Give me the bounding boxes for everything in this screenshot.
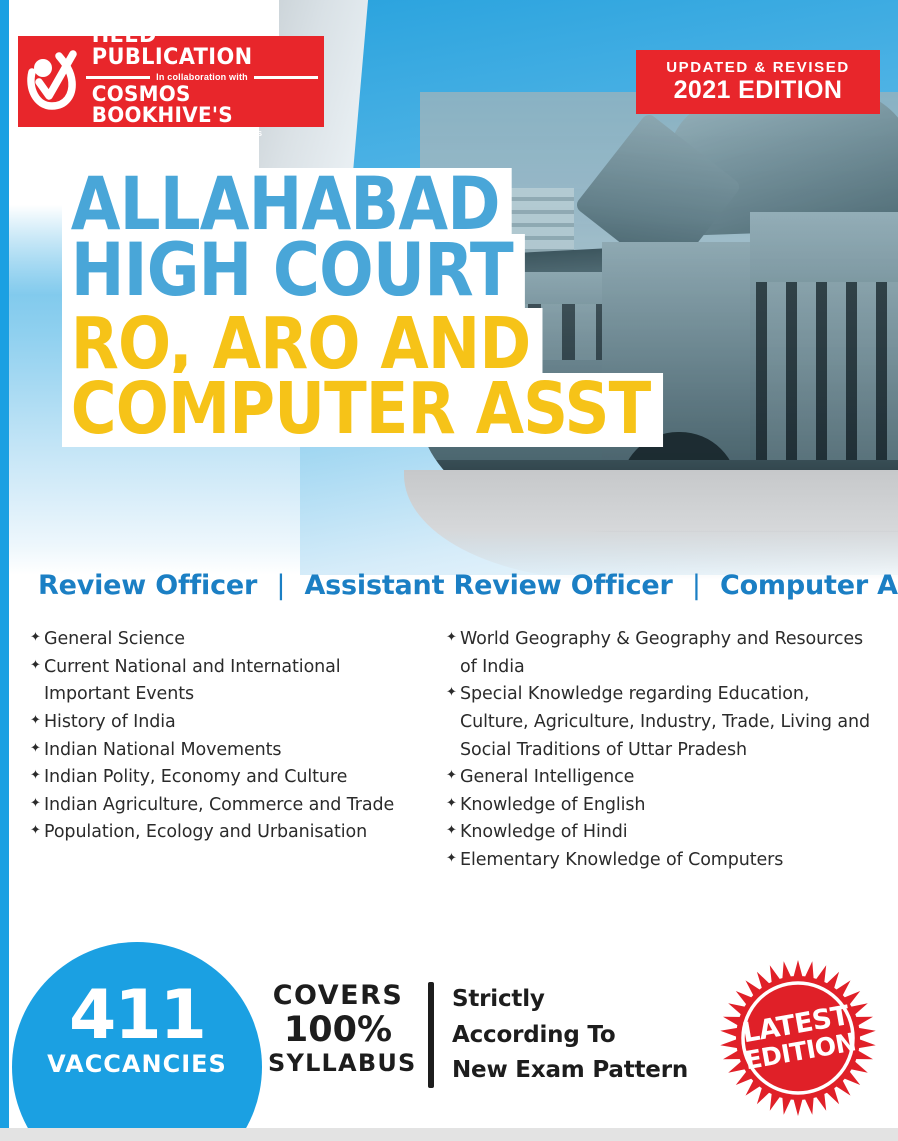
bullet-icon: ✦ xyxy=(446,847,460,872)
title-line-4: COMPUTER ASST xyxy=(62,373,663,447)
role-review-officer: Review Officer xyxy=(38,570,257,601)
page-title: ALLAHABAD HIGH COURT RO, ARO AND COMPUTE… xyxy=(62,168,745,438)
list-item: ✦ General Science xyxy=(30,626,430,654)
list-item-label: Special Knowledge regarding Education, C… xyxy=(460,681,880,764)
logo-rule-left xyxy=(86,76,150,79)
subtitle-separator-1: | xyxy=(266,570,295,601)
bottom-edge xyxy=(0,1128,898,1141)
bullet-icon: ✦ xyxy=(446,819,460,844)
publisher-collab-text: In collaboration with xyxy=(156,72,248,82)
book-cover: HEED PUBLICATION In collaboration with C… xyxy=(0,0,898,1141)
exam-roles-subtitle: Review Officer | Assistant Review Office… xyxy=(38,570,878,601)
vacancies-label: VACCANCIES xyxy=(12,1050,262,1078)
list-item-label: General Science xyxy=(44,626,430,654)
covers-line3: SYLLABUS xyxy=(268,1050,408,1078)
vacancies-block: 411 VACCANCIES xyxy=(12,985,262,1078)
vertical-divider xyxy=(428,982,434,1088)
subtitle-separator-2: | xyxy=(682,570,711,601)
bullet-icon: ✦ xyxy=(30,654,44,679)
publisher-name-line3: COSMOS BOOKHIVE'S xyxy=(92,84,312,126)
list-item-label: Indian Agriculture, Commerce and Trade xyxy=(44,792,430,820)
list-item-label: World Geography & Geography and Resource… xyxy=(460,626,880,681)
list-item: ✦ Elementary Knowledge of Computers xyxy=(446,847,880,875)
bullet-icon: ✦ xyxy=(446,626,460,651)
list-item-label: Population, Ecology and Urbanisation xyxy=(44,819,430,847)
list-item: ✦ Knowledge of English xyxy=(446,792,880,820)
title-line-2: HIGH COURT xyxy=(62,234,525,310)
logo-rule-right xyxy=(254,76,318,79)
bullet-icon: ✦ xyxy=(30,792,44,817)
list-item: ✦ Knowledge of Hindi xyxy=(446,819,880,847)
bullet-icon: ✦ xyxy=(446,764,460,789)
syllabus-column-right: ✦ World Geography & Geography and Resour… xyxy=(446,626,880,875)
list-item: ✦ World Geography & Geography and Resour… xyxy=(446,626,880,681)
role-computer-asst: Computer Asst xyxy=(720,570,898,601)
bullet-icon: ✦ xyxy=(446,792,460,817)
bullet-icon: ✦ xyxy=(446,681,460,706)
covers-percent: 100% xyxy=(268,1011,408,1050)
bullet-icon: ✦ xyxy=(30,819,44,844)
publisher-collab-row: In collaboration with xyxy=(86,72,318,82)
list-item-label: Current National and International Impor… xyxy=(44,654,430,709)
list-item: ✦ Special Knowledge regarding Education,… xyxy=(446,681,880,764)
list-item: ✦ Population, Ecology and Urbanisation xyxy=(30,819,430,847)
edition-badge: UPDATED & REVISED 2021 EDITION xyxy=(636,50,880,114)
list-item: ✦ History of India xyxy=(30,709,430,737)
publisher-tagline: YOUR PARTNER IN SUCCESS xyxy=(141,129,262,138)
list-item-label: Elementary Knowledge of Computers xyxy=(460,847,880,875)
checkmark-person-logo-icon xyxy=(26,48,84,116)
list-item: ✦ Current National and International Imp… xyxy=(30,654,430,709)
list-item: ✦ Indian National Movements xyxy=(30,737,430,765)
pattern-line1: Strictly xyxy=(452,982,702,1018)
list-item-label: General Intelligence xyxy=(460,764,880,792)
pattern-line2: According To xyxy=(452,1018,702,1054)
left-blue-edge-strip xyxy=(0,0,9,1141)
syllabus-columns: ✦ General Science ✦ Current National and… xyxy=(30,626,880,875)
covers-syllabus-block: COVERS 100% SYLLABUS xyxy=(268,980,408,1077)
covers-line1: COVERS xyxy=(268,980,408,1011)
vacancies-count: 411 xyxy=(12,985,262,1048)
list-item-label: Indian Polity, Economy and Culture xyxy=(44,764,430,792)
bullet-icon: ✦ xyxy=(30,737,44,762)
role-assistant-review-officer: Assistant Review Officer xyxy=(304,570,672,601)
exam-pattern-block: Strictly According To New Exam Pattern xyxy=(452,982,702,1089)
bullet-icon: ✦ xyxy=(30,709,44,734)
list-item: ✦ General Intelligence xyxy=(446,764,880,792)
edition-badge-line1: UPDATED & REVISED xyxy=(666,60,850,77)
publisher-logo-block: HEED PUBLICATION In collaboration with C… xyxy=(18,36,324,127)
list-item-label: Indian National Movements xyxy=(44,737,430,765)
pattern-line3: New Exam Pattern xyxy=(452,1053,702,1089)
list-item: ✦ Indian Polity, Economy and Culture xyxy=(30,764,430,792)
list-item-label: History of India xyxy=(44,709,430,737)
latest-edition-badge: LATEST EDITION xyxy=(718,958,878,1118)
list-item: ✦ Indian Agriculture, Commerce and Trade xyxy=(30,792,430,820)
starburst-seal-icon xyxy=(718,958,878,1118)
publisher-logo-text: HEED PUBLICATION In collaboration with C… xyxy=(84,25,324,138)
list-item-label: Knowledge of Hindi xyxy=(460,819,880,847)
bullet-icon: ✦ xyxy=(30,626,44,651)
bullet-icon: ✦ xyxy=(30,764,44,789)
publisher-name-line1: HEED PUBLICATION xyxy=(92,25,312,69)
edition-badge-line2: 2021 EDITION xyxy=(674,77,843,105)
syllabus-column-left: ✦ General Science ✦ Current National and… xyxy=(30,626,430,875)
list-item-label: Knowledge of English xyxy=(460,792,880,820)
